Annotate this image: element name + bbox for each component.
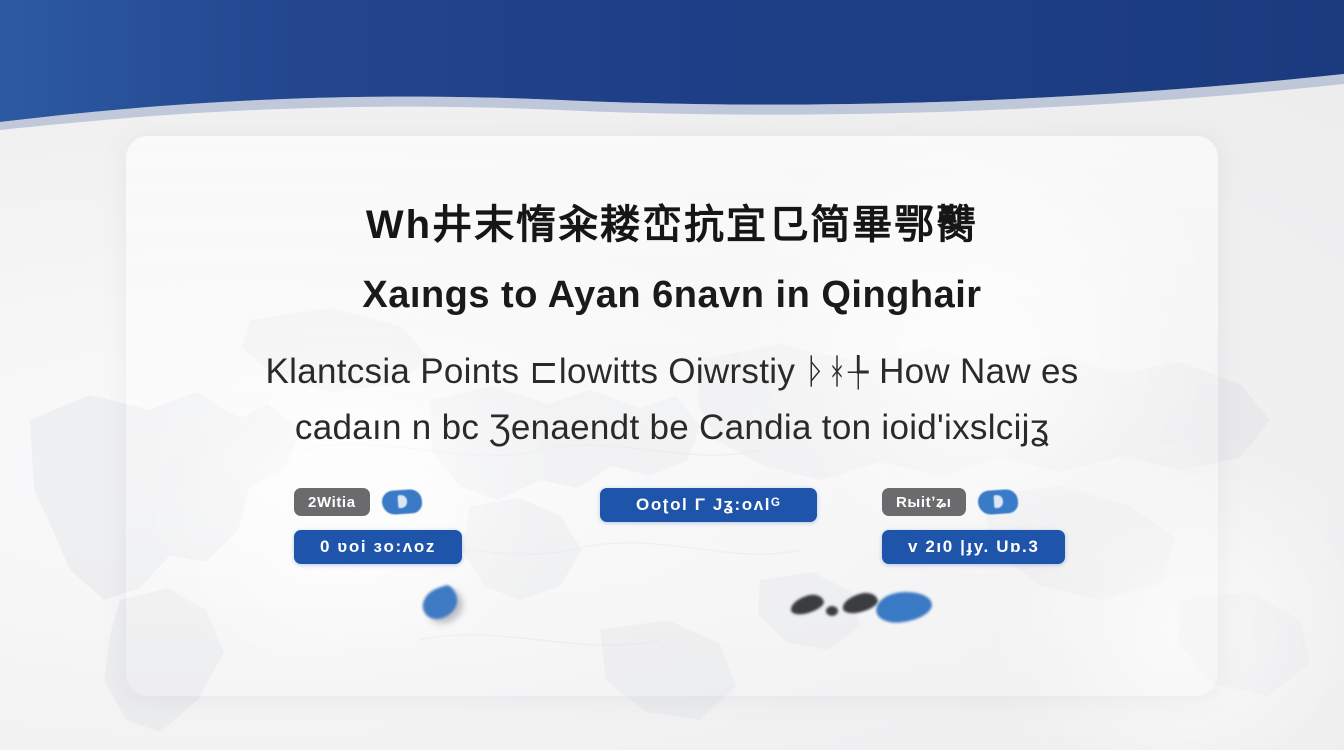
- action-button-middle[interactable]: Ooʈol Γ Jʓ:oʌlᴳ: [600, 488, 817, 522]
- body-line-2: cadaın n bc Ʒenaendt be Candia ton ioid'…: [172, 400, 1172, 457]
- badge-group-left: 2Witia 0 ʋoi ɜo:ʌoz: [294, 488, 462, 564]
- top-navy-banner: [0, 0, 1344, 130]
- badge-group-right: Rыitʼʑı v 2ı0 |ɟy. Uɒ.3: [882, 488, 1065, 564]
- body-line-1: Klantcsia Points ⊏lowitts Oiwrstiy ᚦᚼ╄ H…: [172, 344, 1172, 401]
- page-subtitle: Xaıngs to Ayan 6navn in Qinghair: [172, 248, 1172, 318]
- blue-pill-icon[interactable]: [381, 489, 423, 516]
- blue-pill-icon-right[interactable]: [977, 489, 1019, 516]
- article-body: Klantcsia Points ⊏lowitts Oiwrstiy ᚦᚼ╄ H…: [172, 318, 1172, 457]
- action-button-left[interactable]: 0 ʋoi ɜo:ʌoz: [294, 530, 462, 564]
- dark-pebble-blob-2: [826, 606, 838, 616]
- tag-chip-left[interactable]: 2Witia: [294, 488, 370, 516]
- tag-chip-right[interactable]: Rыitʼʑı: [882, 488, 966, 516]
- badge-line-left-top: 2Witia: [294, 488, 462, 516]
- badge-group-middle: Ooʈol Γ Jʓ:oʌlᴳ: [600, 488, 817, 522]
- badge-line-right-top: Rыitʼʑı: [882, 488, 1065, 516]
- page-root: Wh井末惰籴耧峦抗宜⺋简畢鄂臡 Xaıngs to Ayan 6navn in …: [0, 0, 1344, 750]
- badge-row: 2Witia 0 ʋoi ɜo:ʌoz Ooʈol Γ Jʓ:oʌlᴳ Rыit…: [126, 488, 1218, 598]
- content-card: Wh井末惰籴耧峦抗宜⺋简畢鄂臡 Xaıngs to Ayan 6navn in …: [126, 136, 1218, 696]
- page-title: Wh井末惰籴耧峦抗宜⺋简畢鄂臡: [172, 176, 1172, 248]
- action-button-right[interactable]: v 2ı0 |ɟy. Uɒ.3: [882, 530, 1065, 564]
